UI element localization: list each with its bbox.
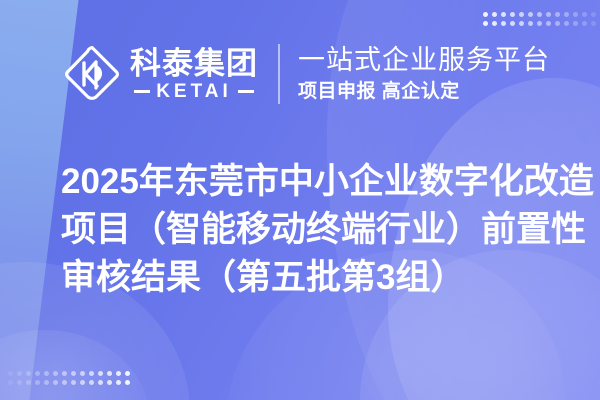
tagline-sub: 项目申报 高企认定 (298, 80, 550, 105)
dot-row (483, 12, 600, 17)
dot (62, 380, 67, 385)
dot (564, 12, 569, 17)
dot (98, 371, 103, 376)
dot (483, 21, 488, 26)
bottom-left-small-blob (0, 330, 150, 400)
dot (17, 380, 22, 385)
dot (564, 21, 569, 26)
dot (26, 380, 31, 385)
dot (89, 380, 94, 385)
banner-title-line-2: 项目（智能移动终端行业）前置性 (61, 206, 577, 254)
dot (44, 380, 49, 385)
dot (98, 380, 103, 385)
dot (107, 380, 112, 385)
dot (546, 21, 551, 26)
dot (501, 21, 506, 26)
logo-company-name-en-row: KETAI (134, 82, 254, 101)
dot (510, 21, 515, 26)
dot (501, 12, 506, 17)
dot (519, 21, 524, 26)
dot (528, 12, 533, 17)
dot (483, 12, 488, 17)
dot (492, 12, 497, 17)
dot (582, 21, 587, 26)
tagline-main: 一站式企业服务平台 (298, 44, 550, 77)
dot (53, 380, 58, 385)
dot (116, 371, 121, 376)
dot (537, 21, 542, 26)
dot (519, 12, 524, 17)
dot (80, 380, 85, 385)
dot (53, 371, 58, 376)
dot (573, 21, 578, 26)
dot (528, 21, 533, 26)
dot (89, 371, 94, 376)
dot (546, 12, 551, 17)
logo-company-name-en: KETAI (156, 82, 232, 101)
promo-banner: 科泰集团 KETAI 一站式企业服务平台 项目申报 高企认定 2025年东莞市中… (0, 0, 600, 400)
dot (80, 371, 85, 376)
dot-row (8, 371, 130, 376)
dot (537, 12, 542, 17)
dot-grid-bottom-left (8, 371, 130, 385)
logo-wordmark: 科泰集团 KETAI (130, 47, 258, 101)
banner-header: 科泰集团 KETAI 一站式企业服务平台 项目申报 高企认定 (62, 40, 550, 108)
dot (492, 21, 497, 26)
dot (107, 371, 112, 376)
dot (116, 380, 121, 385)
dot (35, 371, 40, 376)
logo-dash-right-icon (238, 90, 254, 93)
dot-grid-top-right (483, 12, 600, 26)
tagline-block: 一站式企业服务平台 项目申报 高企认定 (298, 44, 550, 105)
logo-dash-left-icon (134, 90, 150, 93)
banner-title-line-3: 审核结果（第五批第3组） (61, 254, 577, 302)
dot (44, 371, 49, 376)
header-divider (278, 44, 280, 104)
dot (71, 371, 76, 376)
dot (573, 12, 578, 17)
dot-row (483, 21, 600, 26)
dot (591, 21, 596, 26)
dot (591, 12, 596, 17)
dot (35, 380, 40, 385)
logo-company-name-cn: 科泰集团 (130, 47, 258, 80)
dot (125, 371, 130, 376)
dot (8, 380, 13, 385)
dot (555, 21, 560, 26)
dot (510, 12, 515, 17)
dot (555, 12, 560, 17)
dot-row (8, 380, 130, 385)
dot (71, 380, 76, 385)
dot (26, 371, 31, 376)
banner-title-line-1: 2025年东莞市中小企业数字化改造 (61, 158, 577, 206)
banner-title: 2025年东莞市中小企业数字化改造 项目（智能移动终端行业）前置性 审核结果（第… (61, 158, 577, 302)
dot (8, 371, 13, 376)
dot (582, 12, 587, 17)
dot (17, 371, 22, 376)
dot (62, 371, 67, 376)
ketai-logo-icon (62, 44, 122, 104)
dot (125, 380, 130, 385)
